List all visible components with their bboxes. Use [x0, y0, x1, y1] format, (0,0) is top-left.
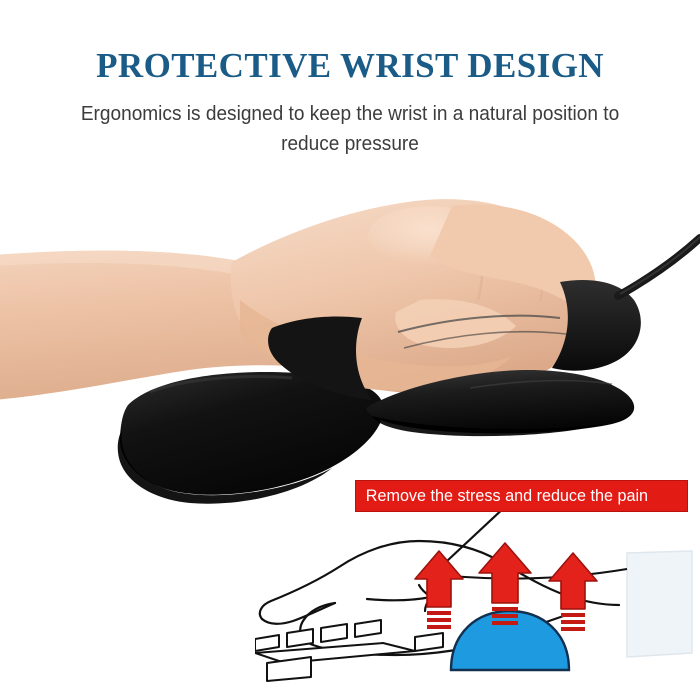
ergonomic-diagram	[255, 505, 700, 700]
callout-banner: Remove the stress and reduce the pain	[355, 480, 688, 512]
diagram-keyboard	[255, 620, 443, 681]
callout-banner-text: Remove the stress and reduce the pain	[356, 487, 648, 506]
header-block: PROTECTIVE WRIST DESIGN Ergonomics is de…	[0, 0, 700, 180]
pressure-arrows	[415, 543, 597, 631]
product-infographic-page: PROTECTIVE WRIST DESIGN Ergonomics is de…	[0, 0, 700, 700]
page-title: PROTECTIVE WRIST DESIGN	[0, 46, 700, 86]
page-subtitle: Ergonomics is designed to keep the wrist…	[56, 99, 644, 159]
ergonomic-diagram-illustration	[255, 505, 700, 700]
mouse-cable	[618, 237, 700, 296]
side-panel	[627, 551, 692, 657]
